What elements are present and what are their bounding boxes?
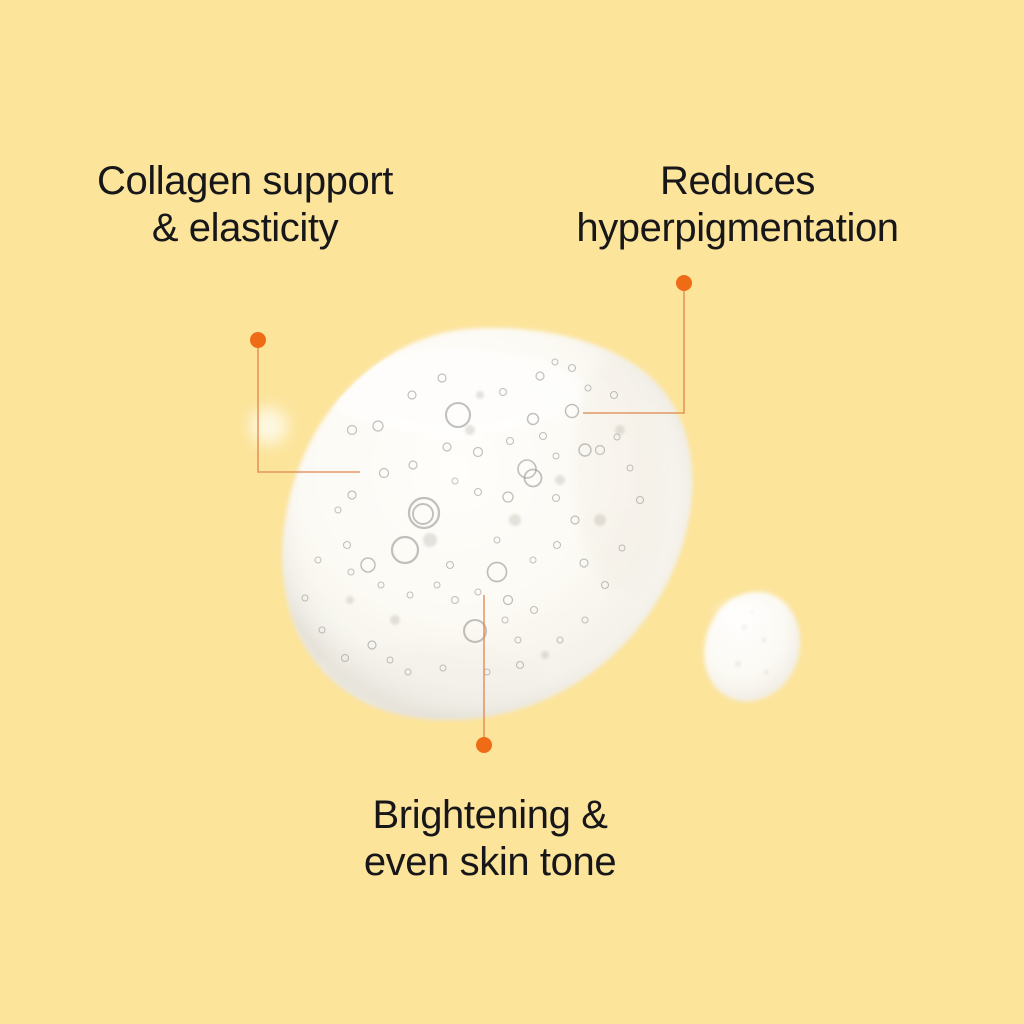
infographic-canvas: Collagen support & elasticity Reduces hy… <box>0 0 1024 1024</box>
callout-label-hyperpigmentation: Reduces hyperpigmentation <box>505 158 970 252</box>
callout-label-brightening: Brightening & even skin tone <box>280 792 700 886</box>
callout-label-collagen: Collagen support & elasticity <box>20 158 470 252</box>
